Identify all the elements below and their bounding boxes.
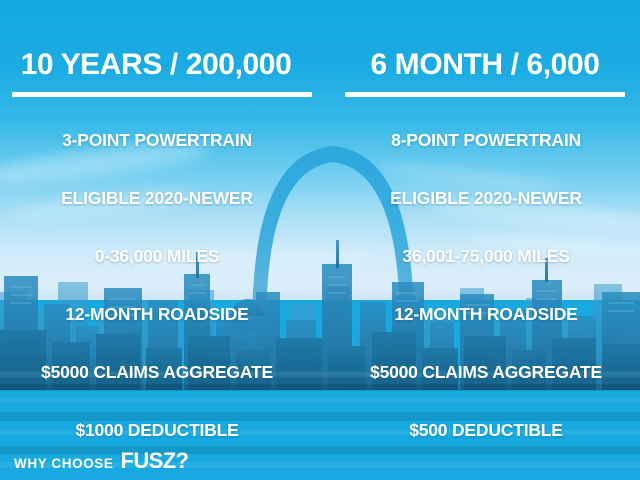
benefit-item: 8-POINT POWERTRAIN (320, 112, 640, 170)
benefit-item: ELIGIBLE 2020-NEWER (0, 170, 320, 228)
footer-tagline: WHY CHOOSE FUSZ? (14, 450, 188, 472)
plan-headline-right: 6 MONTH / 6,000 (320, 50, 640, 80)
promo-slide: 10 YEARS / 200,000 3-POINT POWERTRAIN EL… (0, 0, 640, 480)
benefit-list-right: 8-POINT POWERTRAIN ELIGIBLE 2020-NEWER 3… (320, 112, 640, 460)
benefit-item: $5000 CLAIMS AGGREGATE (320, 344, 640, 402)
headline-underline-right (345, 92, 625, 97)
benefit-item: $500 DEDUCTIBLE (320, 402, 640, 460)
benefit-item: 0-36,000 MILES (0, 228, 320, 286)
headline-underline-left (12, 92, 312, 97)
footer-prefix: WHY CHOOSE (14, 456, 114, 471)
benefit-item: 36,001-75,000 MILES (320, 228, 640, 286)
benefit-list-left: 3-POINT POWERTRAIN ELIGIBLE 2020-NEWER 0… (0, 112, 320, 460)
benefit-item: 3-POINT POWERTRAIN (0, 112, 320, 170)
benefit-item: 12-MONTH ROADSIDE (320, 286, 640, 344)
plan-headline-left: 10 YEARS / 200,000 (0, 50, 320, 80)
brand-logo-text: FUSZ? (121, 450, 189, 472)
benefit-item: 12-MONTH ROADSIDE (0, 286, 320, 344)
benefit-item: ELIGIBLE 2020-NEWER (320, 170, 640, 228)
benefit-item: $5000 CLAIMS AGGREGATE (0, 344, 320, 402)
content-layer: 10 YEARS / 200,000 3-POINT POWERTRAIN EL… (0, 0, 640, 480)
plan-column-right: 6 MONTH / 6,000 8-POINT POWERTRAIN ELIGI… (320, 0, 640, 445)
plan-column-left: 10 YEARS / 200,000 3-POINT POWERTRAIN EL… (0, 0, 320, 445)
